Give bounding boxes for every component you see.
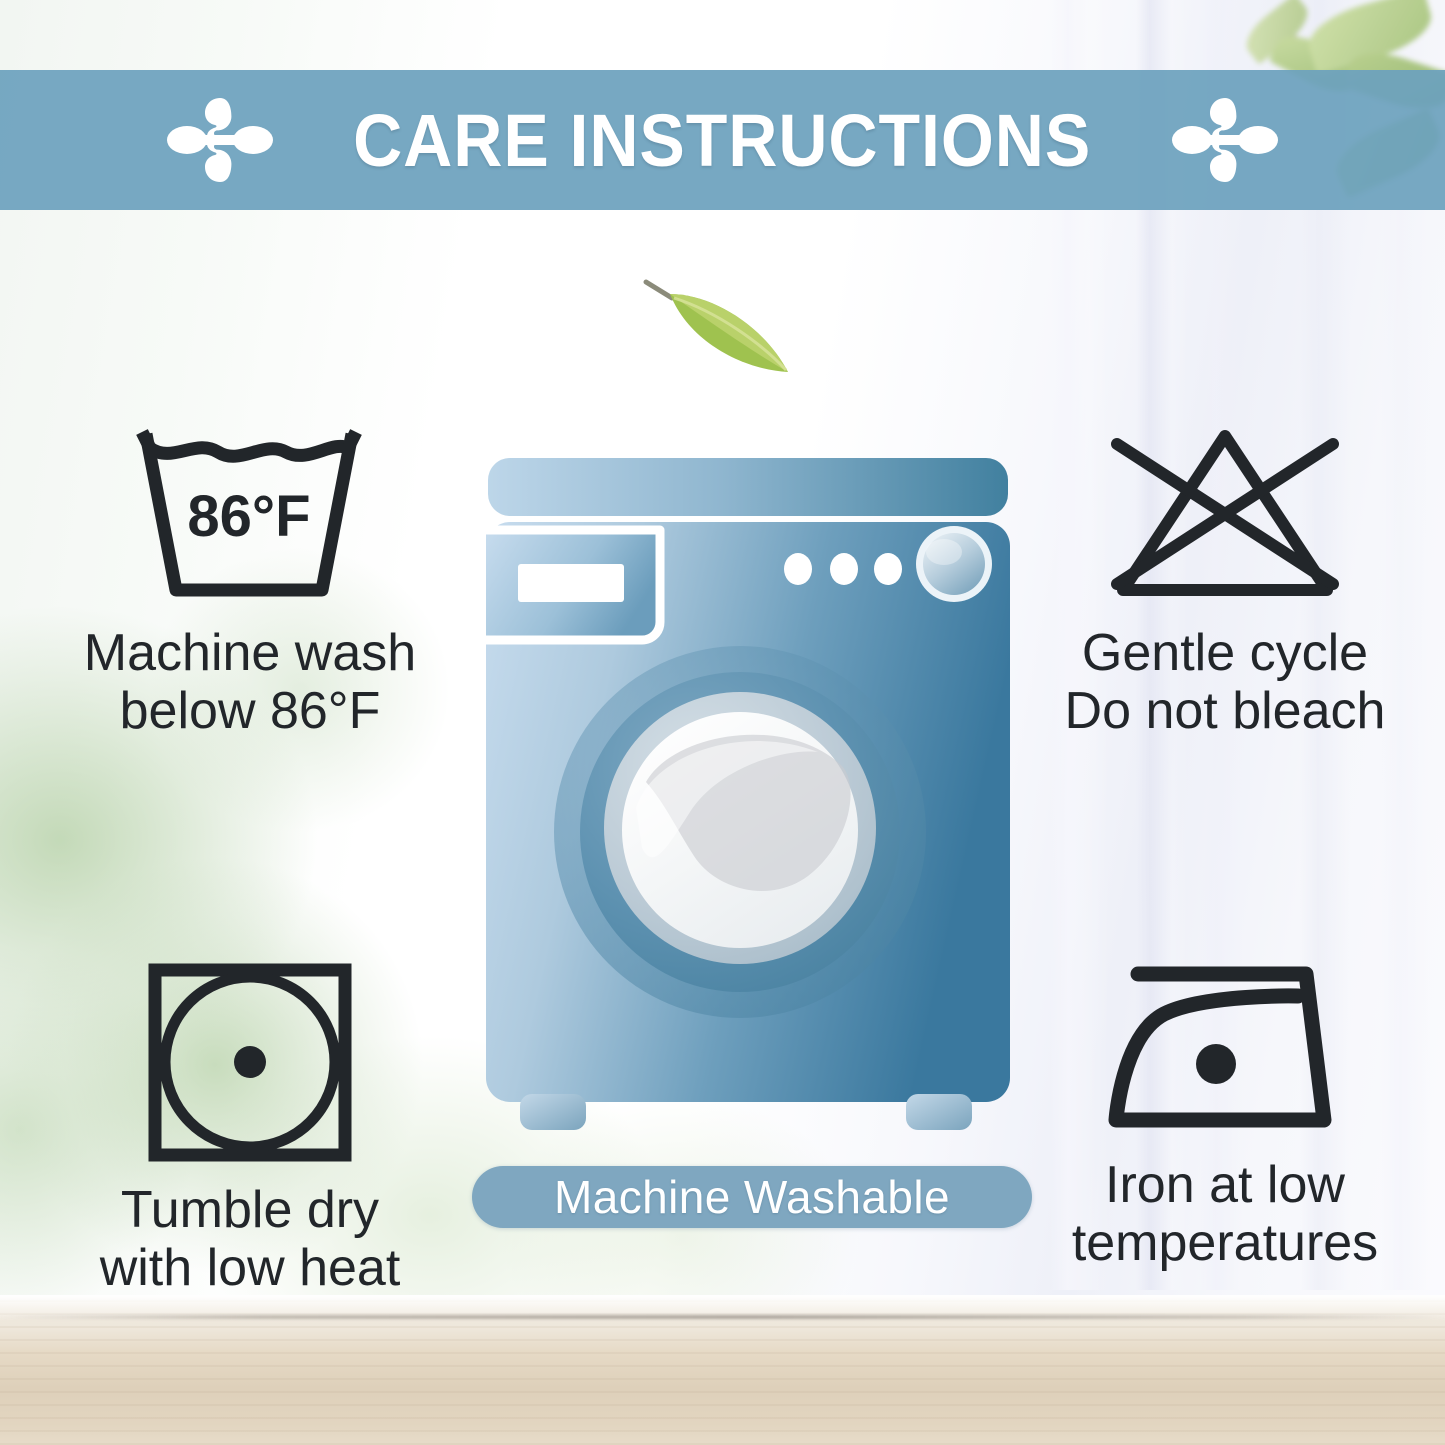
care-symbol-iron: Iron at low temperatures xyxy=(1015,960,1435,1272)
wash-temperature-value: 86°F xyxy=(187,484,310,549)
care-symbol-tumble-dry: Tumble dry with low heat xyxy=(40,960,460,1297)
washer-top-lid xyxy=(488,458,1008,516)
care-instructions-infographic: CARE INSTRUCTIONS 86°F Machine wash belo… xyxy=(0,0,1445,1445)
care-symbol-label-iron: Iron at low temperatures xyxy=(1072,1156,1378,1272)
indicator-lights xyxy=(784,553,902,585)
fleur-de-lis-right-icon xyxy=(1170,92,1280,188)
care-symbol-label-tumble-dry: Tumble dry with low heat xyxy=(100,1181,401,1297)
washer-foot-right xyxy=(906,1094,972,1130)
machine-washable-badge: Machine Washable xyxy=(472,1166,1032,1228)
iron-icon xyxy=(1100,960,1350,1140)
washer-door[interactable] xyxy=(554,646,926,1018)
washing-machine-illustration xyxy=(478,452,1018,1132)
indicator-light-3 xyxy=(874,553,902,585)
detergent-drawer[interactable] xyxy=(486,530,660,640)
machine-washable-badge-label: Machine Washable xyxy=(554,1170,950,1224)
page-title: CARE INSTRUCTIONS xyxy=(353,98,1091,183)
care-symbol-label-machine-wash: Machine wash below 86°F xyxy=(84,624,416,740)
fleur-de-lis-left-icon xyxy=(165,92,275,188)
indicator-light-2 xyxy=(830,553,858,585)
care-symbol-machine-wash: 86°F Machine wash below 86°F xyxy=(40,418,460,740)
crossed-triangle-icon xyxy=(1095,418,1355,608)
indicator-light-1 xyxy=(784,553,812,585)
wash-tub-icon: 86°F xyxy=(120,418,380,608)
wooden-table-surface xyxy=(0,1295,1445,1445)
drawer-slot xyxy=(518,564,624,602)
header-banner: CARE INSTRUCTIONS xyxy=(0,70,1445,210)
floating-leaf-icon xyxy=(628,268,810,388)
tumble-dry-icon xyxy=(143,960,358,1165)
washer-foot-left xyxy=(520,1094,586,1130)
control-dial-knob[interactable] xyxy=(916,526,992,602)
care-symbol-label-do-not-bleach: Gentle cycle Do not bleach xyxy=(1065,624,1386,740)
care-symbol-do-not-bleach: Gentle cycle Do not bleach xyxy=(1015,418,1435,740)
